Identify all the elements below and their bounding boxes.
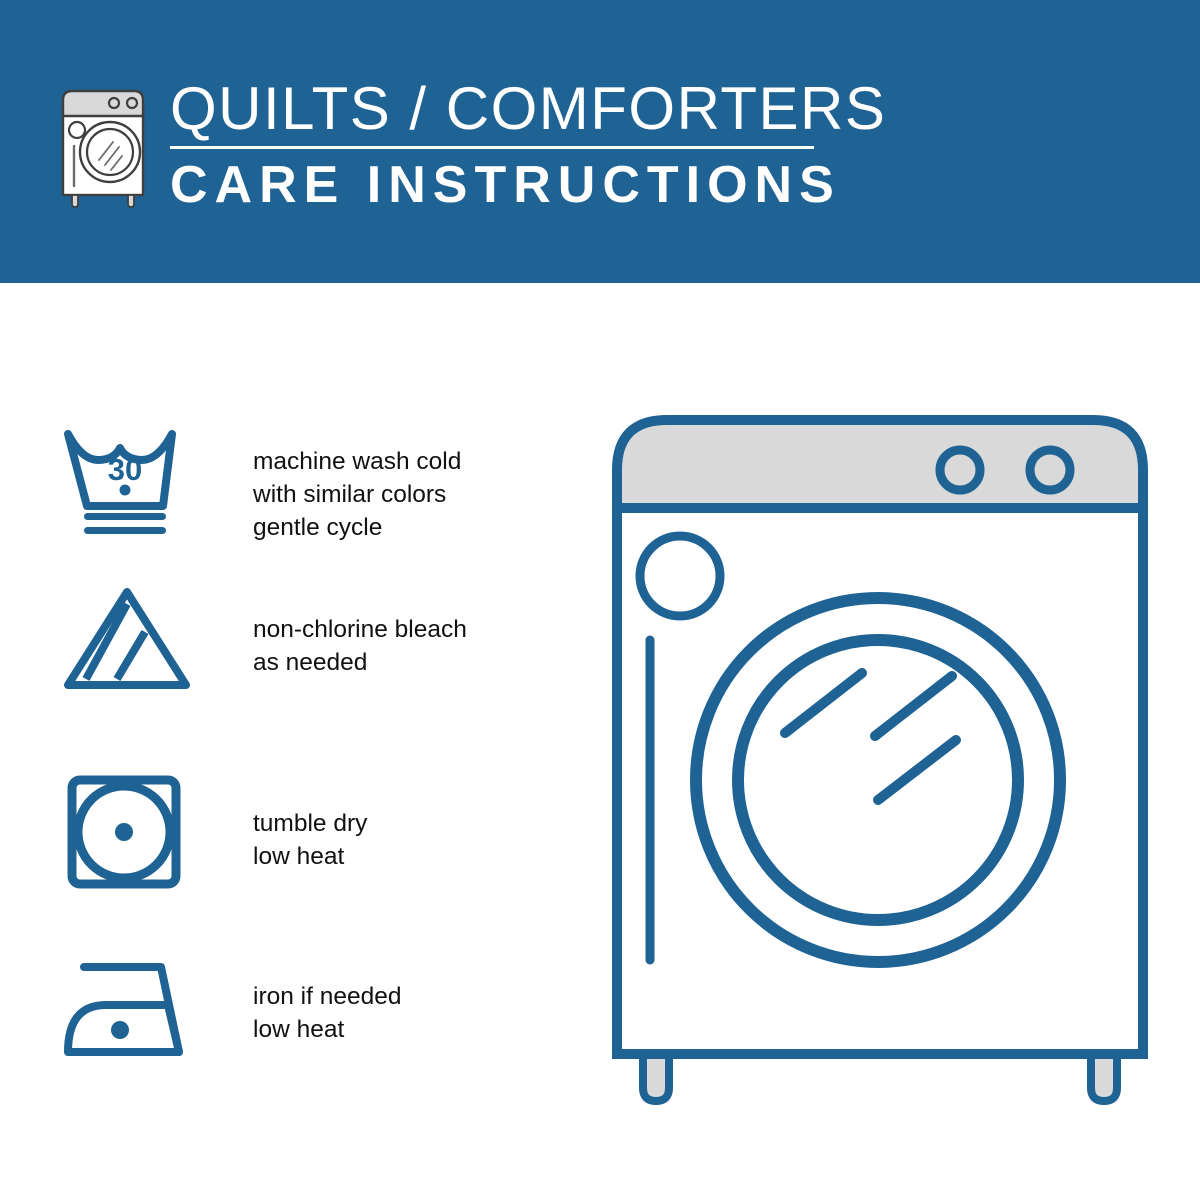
care-item-text: non-chlorine bleach as needed bbox=[253, 613, 513, 679]
care-instructions-infographic: QUILTS / COMFORTERS CARE INSTRUCTIONS 30 bbox=[0, 0, 1200, 1200]
detergent-dial-icon bbox=[640, 536, 720, 616]
care-line: iron if needed bbox=[253, 980, 513, 1013]
non-chlorine-bleach-icon bbox=[60, 578, 200, 698]
control-knob-1 bbox=[940, 450, 980, 490]
care-line: tumble dry bbox=[253, 807, 513, 840]
care-item-machine-wash: 30 machine wash cold with similar colors… bbox=[0, 420, 520, 580]
care-line: machine wash cold bbox=[253, 445, 513, 478]
iron-low-heat-icon bbox=[60, 948, 200, 1068]
care-line: as needed bbox=[253, 646, 513, 679]
machine-wash-30-gentle-icon: 30 bbox=[60, 420, 200, 540]
header-title-block: QUILTS / COMFORTERS CARE INSTRUCTIONS bbox=[170, 78, 830, 213]
door-inner-ring bbox=[738, 640, 1018, 920]
care-item-tumble-dry: tumble dry low heat bbox=[0, 772, 520, 932]
header-banner: QUILTS / COMFORTERS CARE INSTRUCTIONS bbox=[0, 0, 1200, 283]
care-item-bleach: non-chlorine bleach as needed bbox=[0, 578, 520, 738]
title-divider bbox=[170, 146, 814, 149]
control-knob-2 bbox=[1030, 450, 1070, 490]
care-line: low heat bbox=[253, 840, 513, 873]
care-item-iron: iron if needed low heat bbox=[0, 948, 520, 1108]
care-line: non-chlorine bleach bbox=[253, 613, 513, 646]
care-item-text: tumble dry low heat bbox=[253, 807, 513, 873]
care-line: gentle cycle bbox=[253, 511, 513, 544]
front-load-washing-machine-illustration bbox=[600, 408, 1160, 1113]
care-item-text: iron if needed low heat bbox=[253, 980, 513, 1046]
care-line: with similar colors bbox=[253, 478, 513, 511]
washing-machine-icon bbox=[52, 80, 162, 210]
page-title: QUILTS / COMFORTERS bbox=[170, 78, 830, 140]
care-line: low heat bbox=[253, 1013, 513, 1046]
page-subtitle: CARE INSTRUCTIONS bbox=[170, 157, 830, 213]
wash-temperature-label: 30 bbox=[108, 452, 142, 487]
tumble-dry-low-icon bbox=[60, 772, 200, 892]
care-item-text: machine wash cold with similar colors ge… bbox=[253, 445, 513, 544]
